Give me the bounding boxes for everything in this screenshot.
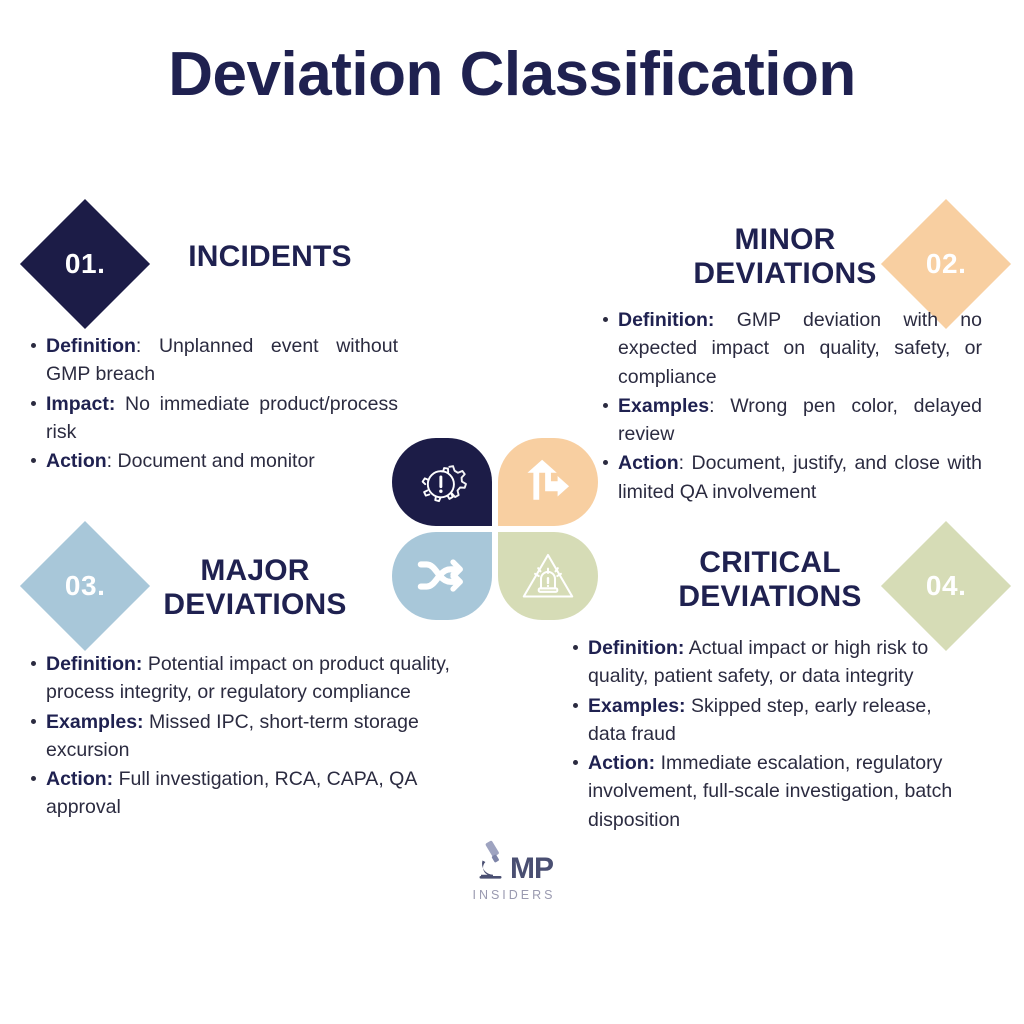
heading-line-1: CRITICAL: [620, 546, 920, 580]
bullet-label: Examples:: [588, 695, 686, 717]
bullet-item: Action: Immediate escalation, regulatory…: [570, 749, 970, 834]
bullet-sep: :: [107, 450, 112, 472]
logo-subtitle: INSIDERS: [462, 888, 566, 902]
gear-alert-icon: [415, 455, 469, 509]
quadrant-heading-incidents: INCIDENTS: [140, 240, 400, 274]
bullet-label: Examples: [618, 395, 709, 417]
bullet-list-major-deviations: Definition: Potential impact on product …: [28, 650, 453, 822]
brand-logo: MP INSIDERS: [462, 840, 566, 902]
icon-tile-major-deviations: [392, 532, 492, 620]
bullet-label: Action: [618, 452, 679, 474]
bullet-label: Impact:: [46, 393, 115, 415]
quadrant-body-minor-deviations: Definition: GMP deviation with no expect…: [600, 306, 982, 507]
shuffle-arrows-icon: [417, 556, 467, 596]
quadrant-heading-major-deviations: MAJOR DEVIATIONS: [120, 554, 390, 621]
logo-mark: MP: [462, 840, 566, 884]
bullet-item: Definition: Potential impact on product …: [28, 650, 453, 707]
bullet-sep: :: [709, 395, 714, 417]
bullet-label: Definition:: [618, 309, 714, 331]
bullet-label: Definition:: [46, 653, 142, 675]
bullet-item: Action: Document and monitor: [28, 447, 398, 475]
bullet-item: Examples: Wrong pen color, delayed revie…: [600, 392, 982, 449]
icon-tile-incidents: [392, 438, 492, 526]
quadrant-heading-minor-deviations: MINOR DEVIATIONS: [640, 223, 930, 290]
quadrant-body-incidents: Definition: Unplanned event without GMP …: [28, 332, 398, 476]
bullet-list-minor-deviations: Definition: GMP deviation with no expect…: [600, 306, 982, 506]
badge-number-02: 02.: [926, 248, 966, 280]
badge-number-01: 01.: [65, 248, 105, 280]
bullet-item: Impact: No immediate product/process ris…: [28, 390, 398, 447]
quadrant-heading-critical-deviations: CRITICAL DEVIATIONS: [620, 546, 920, 613]
heading-line-1: MAJOR: [120, 554, 390, 588]
heading-line-2: DEVIATIONS: [120, 588, 390, 622]
bullet-item: Definition: Actual impact or high risk t…: [570, 634, 970, 691]
quadrant-body-critical-deviations: Definition: Actual impact or high risk t…: [570, 634, 970, 835]
alarm-triangle-icon: [520, 550, 576, 602]
bullet-item: Definition: GMP deviation with no expect…: [600, 306, 982, 391]
bullet-label: Action: [46, 450, 107, 472]
bullet-item: Examples: Missed IPC, short-term storage…: [28, 708, 453, 765]
icon-tile-critical-deviations: [498, 532, 598, 620]
logo-wordmark: MP: [510, 854, 553, 884]
quadrant-body-major-deviations: Definition: Potential impact on product …: [28, 650, 453, 823]
bullet-sep: :: [679, 452, 684, 474]
heading-line-1: MINOR: [640, 223, 930, 257]
bullet-label: Definition: [46, 335, 136, 357]
bullet-sep: :: [136, 335, 141, 357]
bullet-label: Action:: [588, 752, 655, 774]
badge-number-04: 04.: [926, 570, 966, 602]
icon-tile-minor-deviations: [498, 438, 598, 526]
page-title: Deviation Classification: [0, 42, 1024, 109]
fork-arrows-icon: [523, 456, 573, 508]
bullet-item: Definition: Unplanned event without GMP …: [28, 332, 398, 389]
bullet-item: Examples: Skipped step, early release, d…: [570, 692, 970, 749]
bullet-label: Definition:: [588, 637, 684, 659]
bullet-list-incidents: Definition: Unplanned event without GMP …: [28, 332, 398, 475]
bullet-text: Document and monitor: [118, 450, 315, 472]
badge-diamond-01: 01.: [20, 199, 150, 329]
heading-line-2: DEVIATIONS: [620, 580, 920, 614]
bullet-item: Action: Full investigation, RCA, CAPA, Q…: [28, 765, 453, 822]
badge-number-03: 03.: [65, 570, 105, 602]
microscope-icon: [475, 839, 509, 884]
infographic-canvas: Deviation Classification 01. INCIDENTS D…: [0, 0, 1024, 1024]
heading-line-2: DEVIATIONS: [640, 257, 930, 291]
bullet-list-critical-deviations: Definition: Actual impact or high risk t…: [570, 634, 970, 834]
bullet-item: Action: Document, justify, and close wit…: [600, 449, 982, 506]
bullet-label: Action:: [46, 768, 113, 790]
bullet-label: Examples:: [46, 711, 144, 733]
center-icon-cluster: [392, 438, 598, 620]
